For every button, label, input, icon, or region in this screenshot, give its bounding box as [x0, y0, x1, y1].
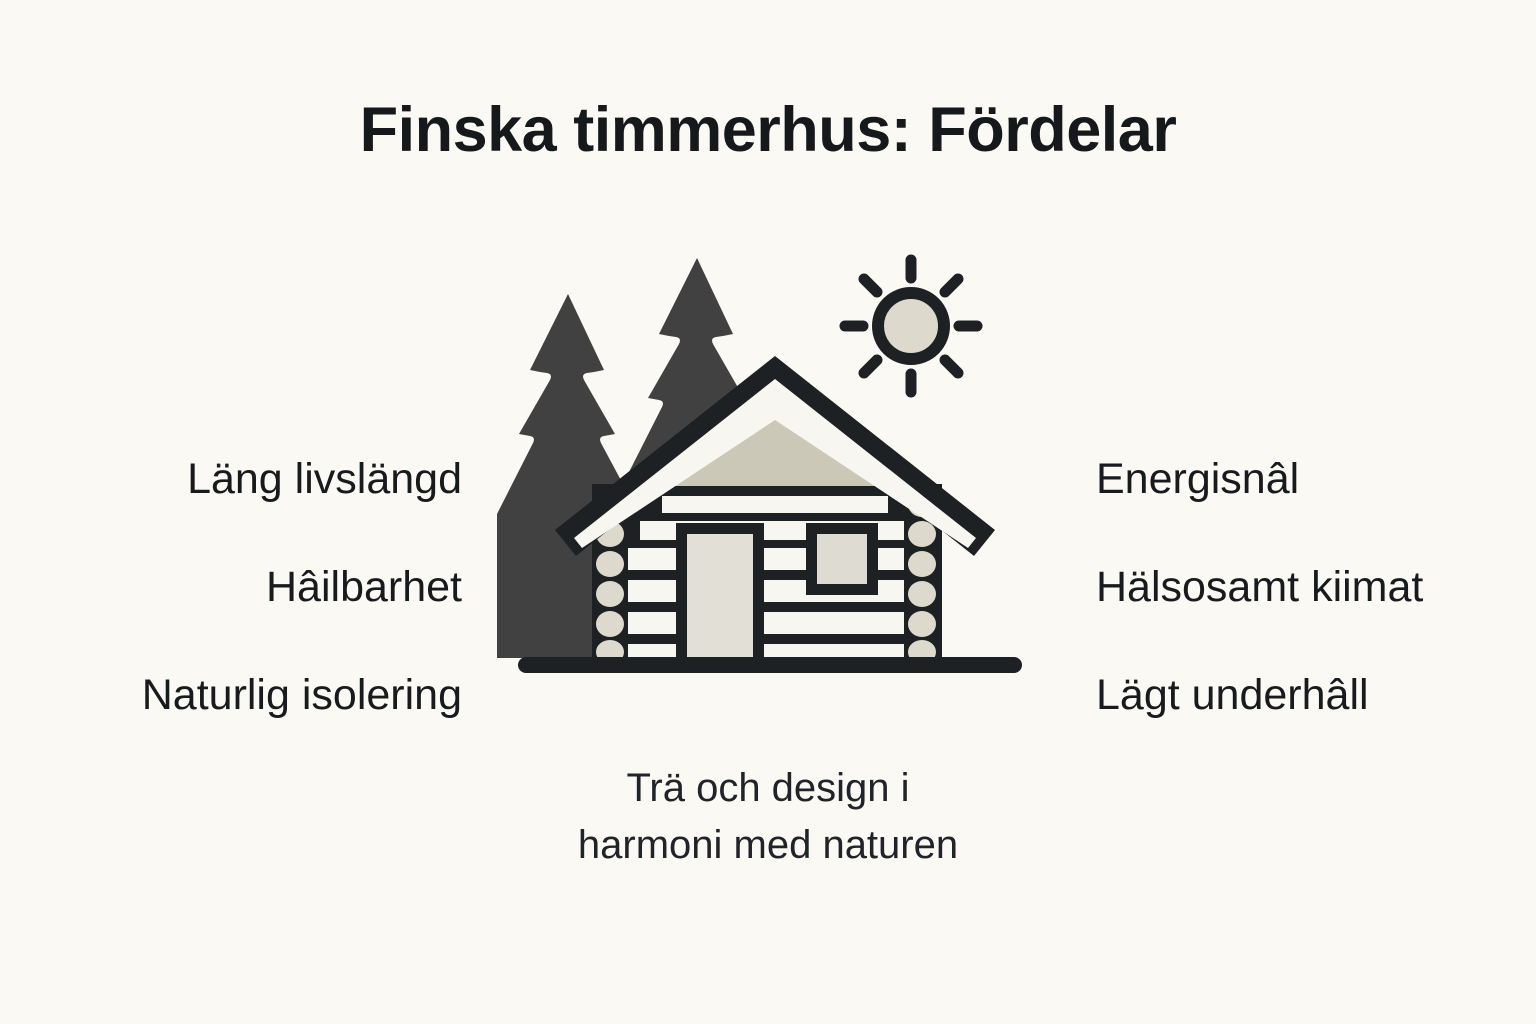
log-end-icon [596, 581, 624, 607]
wall-log-1 [618, 580, 932, 602]
ground-line [518, 657, 1022, 673]
illustration-caption: Trä och design i harmoni med naturen [468, 760, 1068, 874]
cabin-top-log [618, 548, 932, 570]
benefit-item-natural-insulation: Naturlig isolering [142, 671, 462, 719]
log-end-icon [908, 581, 936, 607]
infographic-canvas: Finska timmerhus: Fördelar Läng livsläng… [0, 0, 1536, 1024]
caption-line-2: harmoni med naturen [468, 817, 1068, 874]
benefit-item-healthy-climate: Hälsosamt kiimat [1096, 563, 1423, 611]
log-end-icon [908, 521, 936, 547]
benefit-item-long-lifespan: Läng livslängd [187, 455, 462, 503]
log-end-icon [908, 551, 936, 577]
gable-log-1 [662, 496, 888, 513]
cabin-window-top [817, 534, 867, 584]
sun-ray-ne [945, 279, 958, 292]
page-title: Finska timmerhus: Fördelar [0, 96, 1536, 165]
log-end-icon [596, 611, 624, 637]
cabin-door-top [687, 534, 753, 667]
sun-ray-se [945, 360, 958, 373]
benefit-item-durability: Hâilbarhet [266, 563, 462, 611]
benefit-item-low-maintenance: Lägt underhâll [1096, 671, 1369, 719]
mortar-line-1 [618, 570, 932, 580]
log-end-icon [908, 611, 936, 637]
sun-icon [845, 260, 977, 392]
mortar-line-2 [618, 602, 932, 612]
benefit-item-energy-efficient: Energisnâl [1096, 455, 1299, 503]
sun-disc [878, 293, 944, 359]
mortar-line-3 [618, 634, 932, 644]
benefits-left-column: Läng livslängd Hâilbarhet Naturlig isole… [22, 455, 462, 719]
caption-line-1: Trä och design i [468, 760, 1068, 817]
benefits-right-column: Energisnâl Hälsosamt kiimat Lägt underhâ… [1096, 455, 1536, 719]
cabin-illustration [490, 238, 1050, 690]
log-end-icon [596, 551, 624, 577]
sun-ray-sw [864, 360, 877, 373]
sun-ray-nw [864, 279, 877, 292]
wall-log-2 [618, 612, 932, 634]
